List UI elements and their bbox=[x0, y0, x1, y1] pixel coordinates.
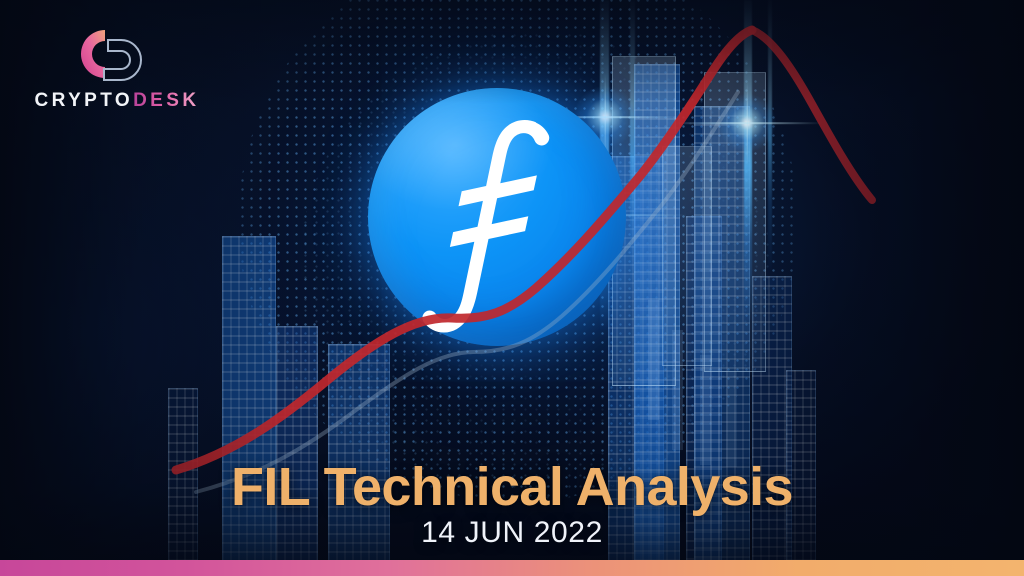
bottom-gradient-bar bbox=[0, 560, 1024, 576]
crypto-desk-c-circle-logo-icon bbox=[58, 24, 166, 86]
brand-wordmark: CRYPTODESK bbox=[22, 90, 212, 112]
page-title: FIL Technical Analysis bbox=[0, 456, 1024, 518]
brand-word-secondary: DESK bbox=[133, 90, 199, 111]
brand-logo[interactable]: CRYPTODESK bbox=[22, 24, 212, 120]
promo-banner: CRYPTODESK FIL Technical Analysis 14 JUN… bbox=[0, 0, 1024, 576]
brand-word-primary: CRYPTO bbox=[35, 90, 134, 111]
page-subtitle-date: 14 JUN 2022 bbox=[0, 516, 1024, 550]
